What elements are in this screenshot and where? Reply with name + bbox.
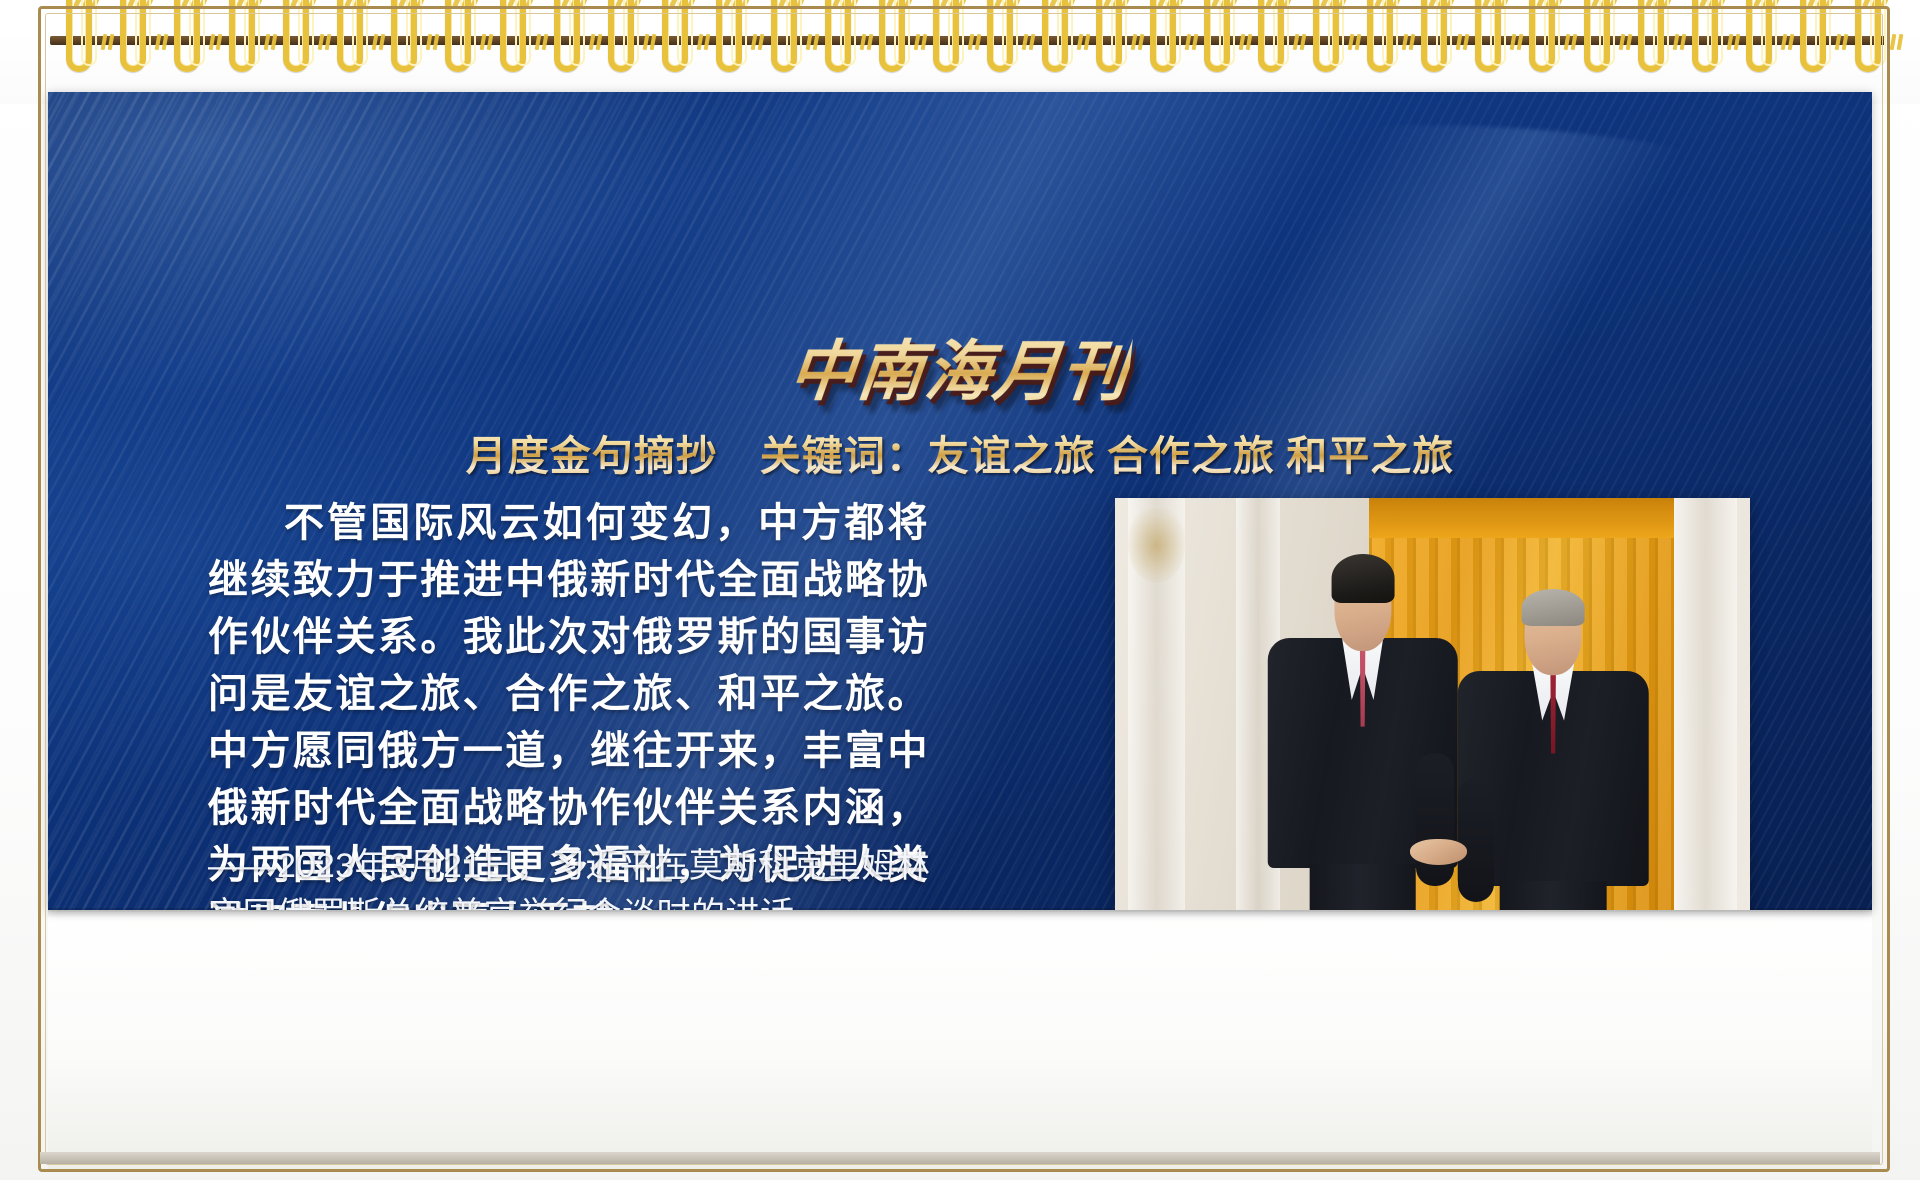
leaders-photo (1115, 498, 1750, 910)
masthead: 中南海月刊 (48, 318, 1872, 414)
page-title: 中南海月刊 (785, 318, 1135, 414)
notebook-page: 中南海月刊 月度金句摘抄 关键词：友谊之旅 合作之旅 和平之旅 不管国际风云如何… (0, 0, 1920, 1180)
photo-content (1115, 498, 1750, 910)
photo-curtain-valance (1369, 498, 1674, 538)
photo-wall-ornament (1128, 508, 1185, 583)
subtitle-keywords: 月度金句摘抄 关键词：友谊之旅 合作之旅 和平之旅 (48, 422, 1872, 482)
photo-figure-right (1458, 589, 1649, 910)
photo-pillar (1674, 498, 1738, 910)
quote-attribution: ——2023年3月21日，习近平在莫斯科克里姆林宫同俄罗斯总统普京举行会谈时的讲… (208, 842, 948, 910)
page-bottom-edge (40, 1152, 1880, 1164)
